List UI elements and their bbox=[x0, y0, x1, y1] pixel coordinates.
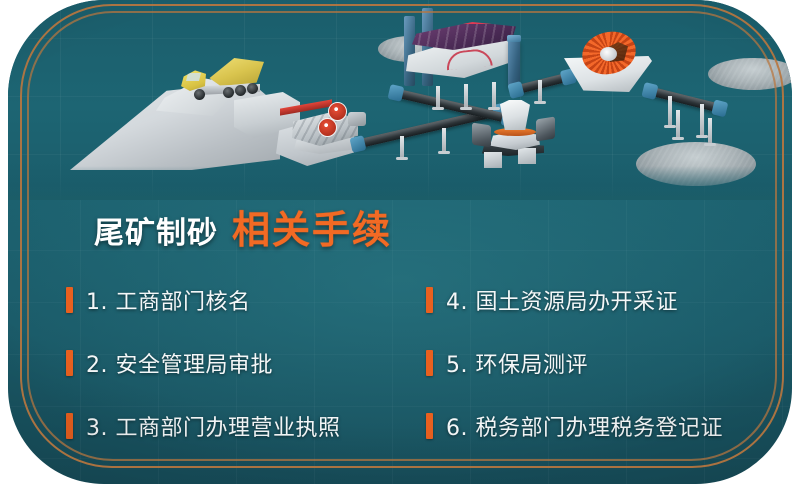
screen-leg bbox=[464, 84, 468, 108]
list-item: 6. 税务部门办理税务登记证 bbox=[426, 410, 766, 442]
list-item-label: 5. 环保局测评 bbox=[446, 347, 588, 379]
production-line-illustration bbox=[8, 0, 792, 200]
conveyor-leg bbox=[400, 136, 404, 158]
truck-wheel bbox=[194, 89, 205, 100]
list-item: 1. 工商部门核名 bbox=[66, 284, 426, 316]
vsi-foot bbox=[518, 148, 536, 164]
conveyor-pulley bbox=[349, 135, 366, 153]
procedure-list: 1. 工商部门核名 4. 国土资源局办开采证 2. 安全管理局审批 5. 环保局… bbox=[66, 268, 766, 457]
bullet-marker-icon bbox=[66, 413, 73, 439]
dump-truck-icon bbox=[176, 56, 268, 104]
list-item: 3. 工商部门办理营业执照 bbox=[66, 410, 426, 442]
bullet-marker-icon bbox=[66, 287, 73, 313]
bullet-marker-icon bbox=[66, 350, 73, 376]
vsi-motor bbox=[536, 116, 555, 141]
sand-washer-icon bbox=[560, 30, 658, 94]
crusher-flywheel bbox=[318, 118, 337, 137]
conveyor-leg bbox=[700, 104, 704, 136]
bullet-marker-icon bbox=[426, 413, 433, 439]
list-item-label: 6. 税务部门办理税务登记证 bbox=[446, 410, 723, 442]
truck-wheel bbox=[223, 87, 234, 98]
list-item-label: 1. 工商部门核名 bbox=[86, 284, 250, 316]
page-title: 尾矿制砂 相关手续 bbox=[94, 199, 392, 254]
poster-root: 尾矿制砂 相关手续 1. 工商部门核名 4. 国土资源局办开采证 2. 安全管理… bbox=[0, 0, 800, 500]
screen-leg bbox=[436, 86, 440, 108]
vsi-sand-maker-icon bbox=[474, 100, 556, 168]
conveyor-pulley bbox=[387, 84, 404, 102]
vsi-motor bbox=[472, 122, 491, 147]
conveyor-leg bbox=[676, 110, 680, 138]
list-item: 2. 安全管理局审批 bbox=[66, 347, 426, 379]
list-item-label: 3. 工商部门办理营业执照 bbox=[86, 410, 340, 442]
aggregate-stockpile-icon bbox=[708, 58, 792, 90]
conveyor-leg bbox=[708, 118, 712, 144]
vsi-feed-cone bbox=[500, 100, 530, 130]
list-item-label: 2. 安全管理局审批 bbox=[86, 347, 273, 379]
bullet-marker-icon bbox=[426, 350, 433, 376]
conveyor-leg bbox=[668, 96, 672, 126]
scene-fade-overlay bbox=[8, 166, 792, 200]
truck-bed bbox=[202, 58, 264, 86]
title-prefix: 尾矿制砂 bbox=[94, 208, 218, 252]
poster-panel: 尾矿制砂 相关手续 1. 工商部门核名 4. 国土资源局办开采证 2. 安全管理… bbox=[8, 0, 792, 484]
column-cap bbox=[507, 35, 521, 42]
conveyor-leg bbox=[538, 80, 542, 102]
bullet-marker-icon bbox=[426, 287, 433, 313]
conveyor-leg bbox=[442, 128, 446, 152]
list-item: 5. 环保局测评 bbox=[426, 347, 766, 379]
truck-wheel bbox=[235, 85, 246, 96]
title-highlight: 相关手续 bbox=[232, 199, 392, 254]
list-item: 4. 国土资源局办开采证 bbox=[426, 284, 766, 316]
crusher-motor bbox=[348, 112, 366, 126]
washer-hub bbox=[600, 47, 617, 61]
truck-wheel bbox=[247, 83, 258, 94]
list-item-label: 4. 国土资源局办开采证 bbox=[446, 284, 678, 316]
